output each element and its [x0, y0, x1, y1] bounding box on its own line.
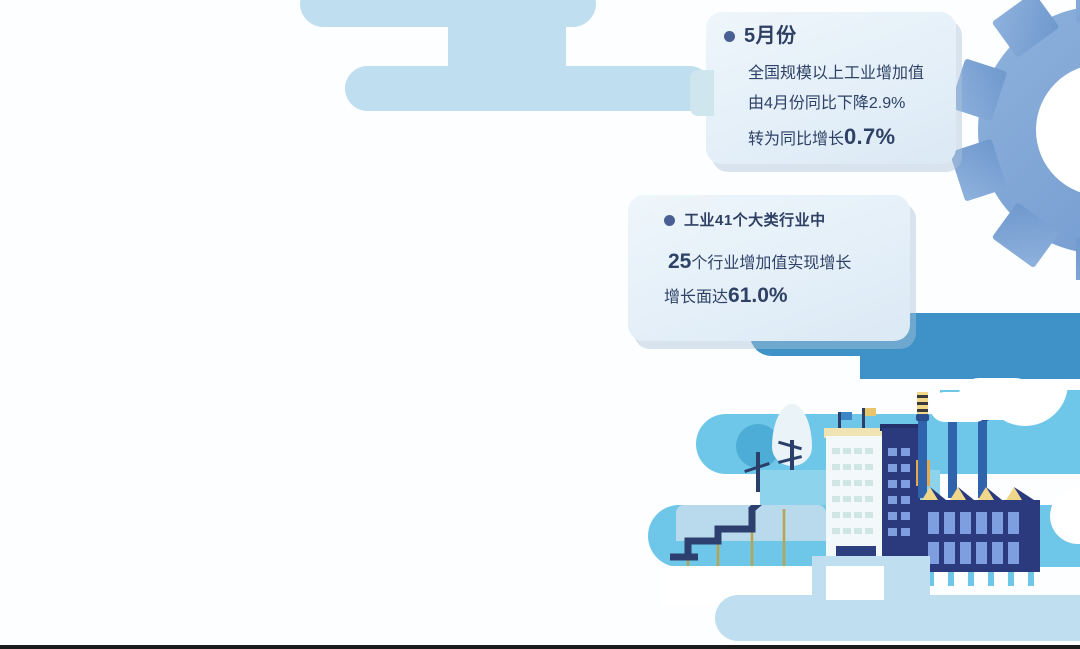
building-window-grid [832, 448, 878, 544]
card-line-2-value: 61.0% [728, 284, 788, 307]
card-line-1-text: 个行业增加值实现增长 [691, 255, 851, 272]
cloud-shape-smoke-2 [930, 392, 990, 422]
flag-icon [841, 412, 852, 420]
white-gap [826, 566, 884, 600]
factory-icon [916, 486, 1044, 586]
card-line-3-text: 转为同比增长 [748, 131, 844, 148]
bottom-rule [0, 645, 1080, 649]
card-line-2: 由4月份同比下降2.9% [748, 96, 905, 112]
cloud-shape-upper [345, 66, 712, 111]
card-header: 工业41个大类行业中 [664, 213, 826, 228]
card-line-2-text: 增长面达 [664, 289, 728, 306]
card-line-2: 增长面达61.0% [664, 285, 788, 306]
bullet-dot-icon [664, 215, 675, 226]
info-card-may: 5月份 全国规模以上工业增加值 由4月份同比下降2.9% 转为同比增长0.7% [706, 12, 956, 164]
infographic-canvas: 5月份 全国规模以上工业增加值 由4月份同比下降2.9% 转为同比增长0.7% … [0, 0, 1080, 649]
info-card-industries: 工业41个大类行业中 25个行业增加值实现增长 增长面达61.0% [628, 195, 910, 341]
flag-icon [865, 408, 876, 416]
cloud-shape-bottom [715, 595, 1080, 641]
card-title: 5月份 [744, 26, 797, 46]
cloud-shape-stem [448, 0, 566, 72]
card-line-1: 全国规模以上工业增加值 [748, 66, 924, 82]
card-line-3-value: 0.7% [844, 124, 895, 149]
card-header: 5月份 [724, 26, 940, 46]
gear-icon [952, 0, 1080, 280]
card-line-3: 转为同比增长0.7% [748, 126, 895, 148]
card-title: 工业41个大类行业中 [684, 213, 826, 228]
card-line-1-value: 25 [668, 250, 691, 273]
bullet-dot-icon [724, 31, 735, 42]
card-line-1: 25个行业增加值实现增长 [668, 251, 851, 272]
accent-band-blue-fill [860, 355, 1080, 379]
